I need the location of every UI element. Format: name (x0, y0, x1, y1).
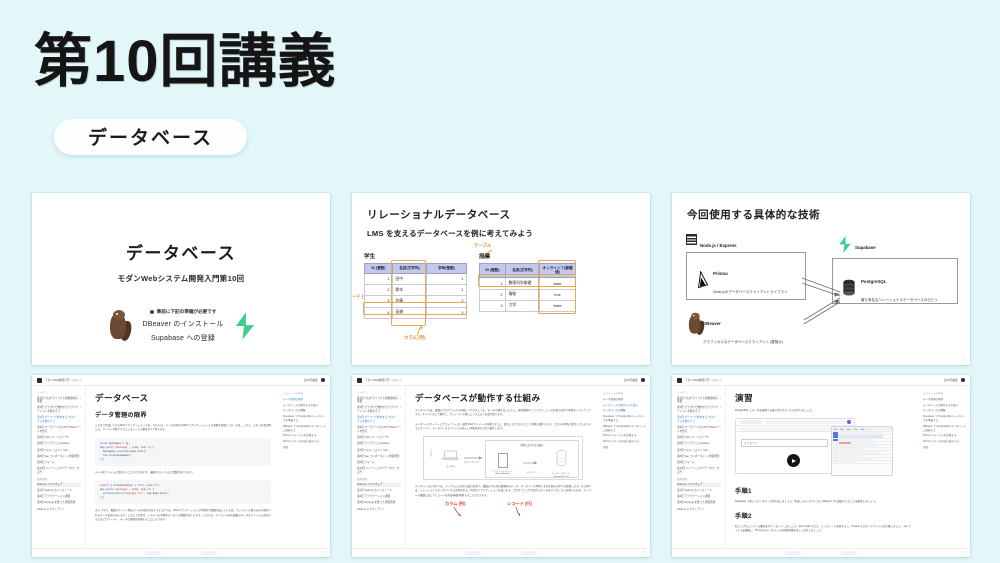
slide-page-number: 2 (642, 357, 644, 362)
supabase-name: Supabase (855, 245, 876, 250)
prisma-name: Prisma (713, 271, 728, 276)
doc-paragraph: また つまり、複数のサーバー側のデータの保存先をどうするかでは、Webアプリケー… (95, 509, 271, 522)
slide-thumbnail-doc-exercise[interactable]: モダンWeb開発入門 検索する 第10回講義 レッスン 第1回 プログラミングと… (672, 375, 970, 557)
doc-lead-paragraph: PostgreSQL とデータを連携する組み合わせサービスを作りましょう。 (735, 409, 911, 413)
doc-heading-1: データベースが動作する仕組み (415, 392, 591, 404)
sidebar-item[interactable]: 第5回 CSS フレームワーク (677, 436, 721, 440)
sidebar-item[interactable]: 第5回 CSS フレームワーク (357, 436, 401, 440)
student-table-wrapper: 学生 ID (整数) 名前(文字列) 学年(整数) 1田中1 2鈴木1 3佐藤2… (364, 252, 467, 319)
sidebar-item[interactable]: 第2回 ブラウザで動作するアプリケーションを動かそう› (37, 406, 81, 414)
sidebar-item[interactable]: 第4回 マークアップとCSSでWebページを作る (677, 426, 721, 434)
table-row: 4高橋2 (365, 307, 467, 318)
doc-footer-nav (32, 548, 330, 557)
node-express-name: Node.js / Express (700, 243, 737, 248)
sidebar-item[interactable]: 第9回 フォーム (37, 461, 81, 465)
step-title: 手順1 (735, 486, 911, 495)
ide-mock: FileEditViewRunHelp (831, 426, 893, 476)
toc-item[interactable]: Prisma でテーブルを定義する (923, 434, 966, 438)
slide-page-number: 5 (642, 549, 644, 554)
code-block: import { writeFileSync } from 'node:fs';… (95, 480, 271, 504)
toc-item[interactable]: DBeaver で PostgreSQL データベースに接続する (923, 425, 966, 433)
sidebar-item[interactable]: 第2回 アプリケーション開発 (677, 495, 721, 499)
slide-thumbnail-tech-stack[interactable]: 今回使用する具体的な技術 Node.js / Express (アプリケーション… (672, 193, 970, 365)
browser-tabbar (736, 419, 854, 426)
supabase-box: PostgreSQL 最も有名なリレーショナルデータベースのひとつ (832, 258, 958, 304)
class-table-caption: 授業 (479, 252, 576, 260)
slide-title: 今回使用する具体的な技術 (687, 207, 970, 222)
prerequisite-item-supabase: Supabase への登録 (151, 333, 215, 343)
slide-page-number: 1 (322, 357, 324, 362)
next-page-button[interactable] (201, 551, 217, 555)
sidebar-section-label: レッスン (677, 390, 721, 394)
table-row: 3佐藤2 (365, 296, 467, 307)
doc-annotation-layer: カラム (列) レコード (行) (415, 498, 591, 512)
profile-avatar[interactable] (847, 420, 851, 424)
annotation-record-arrow-icon (515, 507, 525, 517)
slide-title: リレーショナルデータベース (367, 207, 650, 222)
sidebar-section-label-2: 参考資料 (677, 477, 721, 481)
doc-body: レッスン 第1回 プログラミングと開発環境の基礎› 第2回 ブラウザで動作するア… (32, 386, 330, 548)
doc-topbar: モダンWeb開発入門 検索する 第10回講義 (352, 375, 650, 386)
table-row: 1数理科学基礎false (480, 278, 576, 289)
prerequisite-lead: 事前に下記の準備が必要です (150, 309, 217, 315)
slide-subtitle: モダンWebシステム開発入門第10回 (118, 273, 245, 284)
sidebar-section-label: レッスン (37, 390, 81, 394)
slide-thumbnail-doc-how-db-works[interactable]: モダンWeb開発入門 検索する 第10回講義 レッスン 第1回 プログラミングと… (352, 375, 650, 557)
prev-page-button[interactable] (465, 551, 481, 555)
sidebar-item[interactable]: Node.js とクライアント (37, 508, 81, 512)
sidebar-item[interactable]: 第7回 フロントエンド Vue (357, 449, 401, 453)
search-input[interactable]: 検索する (712, 378, 722, 382)
user-side-label: ユーザー (428, 449, 432, 458)
toc-item[interactable]: Supabase で PostgreSQL データベースを準備する (923, 415, 966, 423)
sidebar-item[interactable]: 第8回 Vue コンポーネント・状態管理 (357, 455, 401, 459)
doc-heading-1: 演習 (735, 392, 911, 404)
student-table-caption: 学生 (364, 252, 467, 260)
prerequisite-item-dbeaver: DBeaver のインストール (142, 319, 223, 329)
sidebar-item[interactable]: 第6回 ライブラリと Node.js (357, 442, 401, 446)
topic-badge-label: データベース (88, 123, 213, 150)
bullet-dot-icon (150, 310, 154, 314)
doc-paragraph: データベースサーバーとクライアントは、通常 Web サーバーと同様なように、独立… (415, 423, 591, 432)
doc-sidebar[interactable]: レッスン 第1回 プログラミングと開発環境の基礎› 第2回 ブラウザで動作するア… (32, 386, 86, 548)
sql-arrow-label: SQL クエリ (523, 471, 541, 474)
database-cylinder-icon (556, 450, 567, 466)
slide-subtitle: LMS を支えるデータベースを例に考えてみよう (367, 228, 650, 239)
toc-item[interactable]: 演習 (603, 446, 646, 450)
sidebar-item[interactable]: 第5回 CSS フレームワーク (37, 436, 81, 440)
current-lesson-label: 第10回講義 (624, 378, 638, 382)
toc-item[interactable]: Prisma でデータを読み書きする (603, 440, 646, 444)
toc-item[interactable]: データベースが動作する仕組み (603, 404, 646, 408)
col-header: 名前(文字列) (393, 263, 427, 273)
sidebar-item[interactable]: 第1回 プログラミングと開発環境の基礎› (677, 397, 721, 405)
doc-heading-1: データベース (95, 392, 271, 404)
doc-paragraph: これまで作成してきたWebアプリケーションでは、それらは、データの保存やWebア… (95, 424, 271, 433)
slide-thumbnail-title[interactable]: データベース モダンWebシステム開発入門第10回 事前に下記の準備が必要です … (32, 193, 330, 365)
sql-arrow-icon (523, 460, 541, 466)
code-block: const messages = []; app.post('/message'… (95, 438, 271, 466)
slide-page-number: 6 (962, 549, 964, 554)
slide-grid: データベース モダンWebシステム開発入門第10回 事前に下記の準備が必要です … (32, 193, 970, 557)
db-server-caption: データベースサーバー (PostgreSQL など) (548, 472, 574, 478)
doc-topbar-right: 第10回講義 (304, 378, 325, 382)
toc-title: このページの内容 (923, 391, 966, 395)
annotation-table: テーブル (474, 243, 491, 249)
toc-item[interactable]: Supabase で PostgreSQL データベースを準備する (283, 415, 326, 423)
doc-toc[interactable]: このページの内容 データ管理の限界 データベースが動作する仕組み データベースの… (278, 386, 330, 548)
site-title: モダンWeb開発入門 (365, 378, 389, 382)
toc-item[interactable]: 演習 (283, 446, 326, 450)
toc-title: このページの内容 (603, 391, 646, 395)
dbeaver-beaver-icon (106, 309, 132, 343)
doc-article: 演習 PostgreSQL とデータを連携する組み合わせサービスを作りましょう。 (726, 386, 918, 548)
sidebar-item[interactable]: 第3回 サーバーで動作するプログラムを動かそう⌄ (677, 416, 721, 424)
supabase-bolt-icon (234, 312, 256, 340)
sidebar-item[interactable]: Express ミドルウェア (357, 483, 401, 487)
toc-item[interactable]: Supabase で PostgreSQL データベースを準備する (603, 415, 646, 423)
toc-item[interactable]: データ管理の限界 (283, 398, 326, 402)
toc-item[interactable]: データベースが動作する仕組み (283, 404, 326, 408)
next-page-button[interactable] (521, 551, 537, 555)
sidebar-item[interactable]: 第2回 ブラウザで動作するアプリケーションを動かそう› (677, 406, 721, 414)
toc-item[interactable]: 演習 (923, 446, 966, 450)
browser-tab[interactable] (739, 420, 763, 424)
sidebar-item[interactable]: 第3回 Settings を使った状態管理 (37, 501, 81, 505)
sidebar-item[interactable]: Node.js とクライアント (357, 508, 401, 512)
toc-item[interactable]: データベースが動作する仕組み (923, 404, 966, 408)
postgres-name: PostgreSQL (861, 279, 886, 284)
prisma-logo-icon (695, 271, 709, 289)
table-row: 1田中1 (365, 273, 467, 284)
db-server-node: データベースサーバー (PostgreSQL など) (548, 450, 574, 479)
dbeaver-name: DBeaver (703, 321, 721, 326)
col-header: ID (整数) (365, 263, 393, 273)
toc-item[interactable]: データ管理の限界 (923, 398, 966, 402)
prev-page-button[interactable] (145, 551, 161, 555)
node-server-node: アプリケーションサーバー (Node.js/Express) (490, 453, 516, 475)
sidebar-section-label-2: 参考資料 (357, 477, 401, 481)
sidebar-item[interactable]: 第3回 サーバーで動作するプログラムを動かそう⌄ (37, 416, 81, 424)
sidebar-item[interactable]: 第3回 サーバーで動作するプログラムを動かそう⌄ (357, 416, 401, 424)
table-row: 2情報true (480, 289, 576, 300)
site-title: モダンWeb開発入門 (45, 378, 69, 382)
search-input[interactable]: 検索する (392, 378, 402, 382)
sidebar-item[interactable]: 第3回 Settings を使った状態管理 (677, 501, 721, 505)
doc-sidebar[interactable]: レッスン 第1回 プログラミングと開発環境の基礎› 第2回 ブラウザで動作するア… (352, 386, 406, 548)
sidebar-item[interactable]: 第6回 ライブラリと Node.js (677, 442, 721, 446)
sidebar-item[interactable]: 第8回 Vue コンポーネント・状態管理 (677, 455, 721, 459)
supabase-bolt-icon (838, 236, 852, 253)
table-comparison-area: テーブル レコード (行) カラム (列) 学生 (352, 252, 650, 319)
doc-footer-nav (672, 548, 970, 557)
connector-arrows-icon (800, 272, 844, 328)
toc-item[interactable]: データベースの種類 (283, 409, 326, 413)
current-lesson-label: 第10回講義 (304, 378, 318, 382)
sidebar-item[interactable]: Express ミドルウェア (677, 483, 721, 487)
message-input[interactable]: メッセージ (741, 439, 828, 447)
sidebar-item[interactable]: 第1回 Node.js のインストール (37, 489, 81, 493)
doc-footer-nav (352, 548, 650, 557)
db-architecture-figure: ユーザー ユーザー HTTP リクエスト 同時に実行する仕組み アプリケーション… (423, 436, 583, 480)
architecture-diagram: Node.js / Express (アプリケーションサーバー) Prisma … (672, 232, 970, 356)
toc-item[interactable]: Prisma でテーブルを定義する (283, 434, 326, 438)
table-row: 3力学false (480, 300, 576, 311)
doc-topbar-right: 第10回講義 (944, 378, 965, 382)
sidebar-item[interactable]: 第9回 フォーム (357, 461, 401, 465)
sidebar-item[interactable]: 第4回 マークアップとCSSでWebページを作る (357, 426, 401, 434)
theme-toggle-icon[interactable] (961, 378, 965, 382)
theme-toggle-icon[interactable] (641, 378, 645, 382)
sidebar-item[interactable]: 第8回 Vue コンポーネント・状態管理 (37, 455, 81, 459)
prerequisite-lead-text: 事前に下記の準備が必要です (157, 309, 217, 315)
sidebar-item[interactable]: 第4回 マークアップとCSSでWebページを作る (37, 426, 81, 434)
doc-article: データベースが動作する仕組み データベースは、複数のプログラムから同時にアクセス… (406, 386, 598, 548)
sidebar-section-label-2: 参考資料 (37, 477, 81, 481)
sidebar-item[interactable]: 第2回 ブラウザで動作するアプリケーションを動かそう› (357, 406, 401, 414)
table-header-row: ID (整数) 名前(文字列) オンライン？(論理値) (480, 263, 576, 278)
slide-title: データベース (126, 239, 236, 264)
next-page-button[interactable] (841, 551, 857, 555)
step-title: 手順2 (735, 511, 911, 520)
toc-item[interactable]: Prisma でデータを読み書きする (923, 440, 966, 444)
annotation-column: カラム (列) (404, 335, 426, 341)
col-header: 学年(整数) (427, 263, 467, 273)
prerequisite-block: 事前に下記の準備が必要です DBeaver のインストール Supabase へ… (106, 309, 255, 343)
sidebar-item[interactable]: Node.js とクライアント (677, 508, 721, 512)
sidebar-item[interactable]: 第10回 リレーショナルデータベース入門 (37, 467, 81, 475)
step-body: 新しいプロジェクトの雛形をダウンロードしましょう。npm install すると… (735, 525, 911, 534)
toc-item[interactable]: データベースの種類 (603, 409, 646, 413)
dbeaver-entry: DBeaver グラフィカルなデータベースクライアント (要指示) (686, 312, 783, 348)
deck-header: 第10回講義 データベース (34, 32, 337, 155)
postgres-sub: 最も有名なリレーショナルデータベースのひとつ (861, 298, 938, 302)
annotation-column-arrow-icon (453, 507, 463, 517)
app-server-box: Prisma Node.jsのデータベースクライアントライブラリ (686, 252, 806, 300)
doc-paragraph: データベースのなかでは、テーブルとよばれる表の形式で、複数の行と列の数値的なデー… (415, 485, 591, 498)
search-input[interactable]: 検索する (72, 378, 82, 382)
toc-item[interactable]: データベースの種類 (923, 409, 966, 413)
current-lesson-label: 第10回講義 (944, 378, 958, 382)
prerequisite-notes: 事前に下記の準備が必要です DBeaver のインストール Supabase へ… (142, 309, 223, 343)
toc-item[interactable]: Prisma でテーブルを定義する (603, 434, 646, 438)
col-header: 名前(文字列) (506, 263, 540, 278)
doc-sidebar[interactable]: レッスン 第1回 プログラミングと開発環境の基礎› 第2回 ブラウザで動作するア… (672, 386, 726, 548)
prisma-sub: Node.jsのデータベースクライアントライブラリ (713, 290, 788, 294)
doc-article: データベース データ管理の限界 これまで作成してきたWebアプリケーションでは、… (86, 386, 278, 548)
step-body: Supabase で新しいデータベースを作成しましょう。作成したデータベースに … (735, 500, 911, 504)
sidebar-item[interactable]: 第1回 Node.js のインストール (677, 489, 721, 493)
exercise-video-embed[interactable]: メッセージ 送信 FileEditViewRunHelp (735, 418, 893, 480)
laptop-icon (442, 450, 459, 461)
doc-paragraph: データベースは、複数のプログラムから同時にアクセスしても、データが壊れないように… (415, 409, 591, 418)
toc-title: このページの内容 (283, 391, 326, 395)
prisma-entry: Prisma Node.jsのデータベースクライアントライブラリ (687, 253, 805, 298)
class-table-wrapper: 授業 ID (整数) 名前(文字列) オンライン？(論理値) 1数理科学基礎fa… (479, 252, 576, 319)
doc-body: レッスン 第1回 プログラミングと開発環境の基礎› 第2回 ブラウザで動作するア… (352, 386, 650, 548)
col-header: オンライン？(論理値) (540, 263, 576, 278)
app-server-icon (498, 453, 508, 468)
class-table: ID (整数) 名前(文字列) オンライン？(論理値) 1数理科学基礎false… (479, 263, 576, 313)
site-logo-icon (677, 378, 682, 383)
topic-badge: データベース (54, 119, 247, 155)
toc-item[interactable]: DBeaver で PostgreSQL データベースに接続する (603, 425, 646, 433)
col-header: ID (整数) (480, 263, 506, 278)
site-title: モダンWeb開発入門 (685, 378, 709, 382)
doc-topbar: モダンWeb開発入門 検索する 第10回講義 (32, 375, 330, 386)
doc-topbar: モダンWeb開発入門 検索する 第10回講義 (672, 375, 970, 386)
server-rack-icon (686, 234, 697, 245)
sidebar-item[interactable]: 第2回 アプリケーション開発 (357, 495, 401, 499)
table-row: 2鈴木1 (365, 285, 467, 296)
page-title: 第10回講義 (34, 32, 337, 93)
postgres-entry: PostgreSQL 最も有名なリレーショナルデータベースのひとつ (833, 259, 957, 306)
doc-toc[interactable]: このページの内容 データ管理の限界 データベースが動作する仕組み データベースの… (598, 386, 650, 548)
sidebar-item[interactable]: 第1回 プログラミングと開発環境の基礎› (37, 397, 81, 405)
student-table: ID (整数) 名前(文字列) 学年(整数) 1田中1 2鈴木1 3佐藤2 4高… (364, 263, 467, 319)
sidebar-item[interactable]: Express ミドルウェア (37, 483, 81, 487)
sidebar-item[interactable]: 第10回 リレーショナルデータベース入門 (677, 467, 721, 475)
doc-body: レッスン 第1回 プログラミングと開発環境の基礎› 第2回 ブラウザで動作するア… (672, 386, 970, 548)
doc-toc[interactable]: このページの内容 データ管理の限界 データベースが動作する仕組み データベースの… (918, 386, 970, 548)
sidebar-item[interactable]: 第9回 フォーム (677, 461, 721, 465)
browser-url-bar[interactable] (765, 420, 845, 424)
sidebar-section-label: レッスン (357, 390, 401, 394)
toc-item[interactable]: DBeaver で PostgreSQL データベースに接続する (283, 425, 326, 433)
prev-page-button[interactable] (785, 551, 801, 555)
sidebar-item[interactable]: 第10回 リレーショナルデータベース入門 (357, 467, 401, 475)
sidebar-item[interactable]: 第6回 ライブラリと Node.js (37, 442, 81, 446)
sidebar-item[interactable]: 第7回 フロントエンド Vue (37, 449, 81, 453)
doc-heading-2: データ管理の限界 (95, 410, 271, 419)
sidebar-item[interactable]: 第1回 Node.js のインストール (357, 489, 401, 493)
server-side-box: 同時に実行する仕組み アプリケーションサーバー (Node.js/Express… (485, 440, 579, 478)
toc-item[interactable]: データ管理の限界 (603, 398, 646, 402)
sidebar-item[interactable]: 第1回 プログラミングと開発環境の基礎› (357, 397, 401, 405)
theme-toggle-icon[interactable] (321, 378, 325, 382)
slide-thumbnail-doc-database[interactable]: モダンWeb開発入門 検索する 第10回講義 レッスン 第1回 プログラミングと… (32, 375, 330, 557)
doc-topbar-right: 第10回講義 (624, 378, 645, 382)
toc-item[interactable]: Prisma でデータを読み書きする (283, 440, 326, 444)
sidebar-item[interactable]: 第2回 アプリケーション開発 (37, 495, 81, 499)
site-logo-icon (357, 378, 362, 383)
user-label: ユーザー (440, 464, 462, 468)
dbeaver-sub: グラフィカルなデータベースクライアント (要指示) (703, 340, 783, 344)
slide-page-number: 3 (962, 357, 964, 362)
site-logo-icon (37, 378, 42, 383)
doc-paragraph: データをファイルに保存することもできますが、規模が大きくなると問題が出てきます。 (95, 471, 271, 475)
dbeaver-beaver-icon (686, 312, 695, 324)
table-header-row: ID (整数) 名前(文字列) 学年(整数) (365, 263, 467, 273)
node-server-caption: アプリケーションサーバー (Node.js/Express) (490, 470, 516, 475)
sidebar-item[interactable]: 第7回 フロントエンド Vue (677, 449, 721, 453)
sql-arrow-group: SQL クエリ (523, 453, 541, 474)
sidebar-item[interactable]: 第3回 Settings を使った状態管理 (357, 501, 401, 505)
http-arrow-label: HTTP リクエスト (464, 461, 480, 464)
slide-page-number: 4 (322, 549, 324, 554)
slide-thumbnail-relational-db[interactable]: リレーショナルデータベース LMS を支えるデータベースを例に考えてみよう テー… (352, 193, 650, 365)
